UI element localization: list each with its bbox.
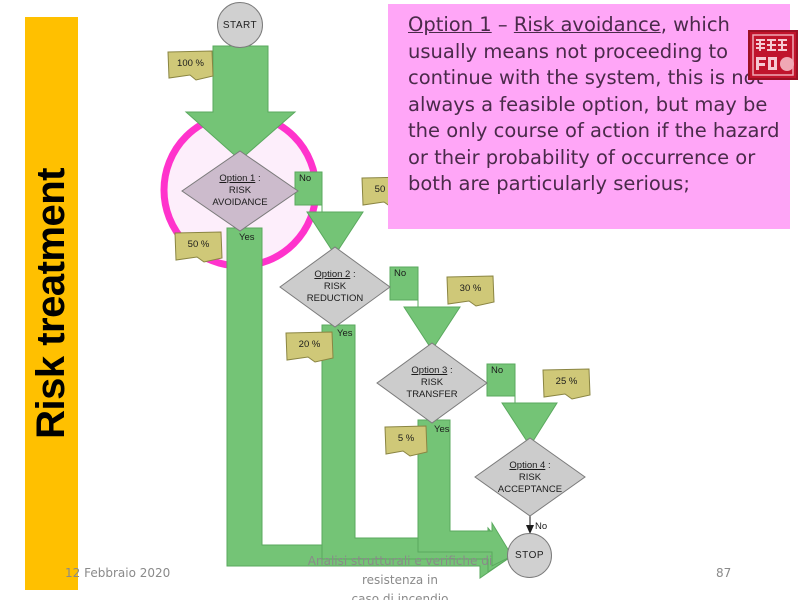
note-30-percent-label: 30 % (447, 276, 494, 306)
edge-label-no-1: No (299, 173, 311, 184)
red-seal-stamp-icon (748, 30, 798, 80)
edge-label-yes-1: Yes (239, 232, 255, 243)
decision-opt3-line2: RISK (421, 377, 443, 389)
footer-page-number: 87 (716, 566, 731, 580)
footer-subject-line2: caso di incendio (280, 590, 520, 600)
decision-opt2-line3: REDUCTION (307, 293, 363, 305)
edge-label-no-4: No (535, 521, 547, 532)
decision-opt4-labels[interactable]: Option 4 : RISK ACCEPTANCE (475, 438, 585, 517)
note-100-percent-label: 100 % (168, 51, 213, 80)
edge-label-no-3: No (491, 365, 503, 376)
note-25-percent-label: 25 % (543, 369, 590, 399)
callout-term-label: Risk avoidance (514, 13, 661, 36)
decision-opt1-line2: RISK (229, 185, 251, 197)
footer-subject: Analisi strutturali e verifiche di resis… (280, 552, 520, 600)
callout-body-text: , which usually means not proceeding to … (408, 13, 779, 195)
note-20-percent-label: 20 % (286, 332, 333, 362)
callout-option-label: Option 1 (408, 13, 492, 36)
note-25-percent: 25 % (543, 369, 590, 399)
note-30-percent: 30 % (447, 276, 494, 306)
callout-text: Option 1 – Risk avoidance, which usually… (408, 12, 780, 198)
note-100-percent: 100 % (168, 51, 213, 80)
edge-label-no-2: No (394, 268, 406, 279)
callout-lead: Option 1 – Risk avoidance, which usually… (408, 13, 779, 195)
terminator-start-label: START (223, 20, 257, 31)
decision-opt1-line3: AVOIDANCE (212, 197, 267, 209)
decision-opt3-line3: TRANSFER (406, 389, 457, 401)
decision-opt2-line2: RISK (324, 281, 346, 293)
decision-opt1-title: Option 1 : (219, 173, 260, 185)
slide-canvas: Risk treatment (0, 0, 800, 600)
note-5-percent: 5 % (385, 426, 427, 456)
note-50a-percent-label: 50 % (175, 232, 222, 262)
decision-opt3-title: Option 3 : (411, 365, 452, 377)
decision-opt4-line3: ACCEPTANCE (498, 484, 562, 496)
note-5-percent-label: 5 % (385, 426, 427, 456)
footer-date: 12 Febbraio 2020 (65, 566, 170, 580)
note-20-percent: 20 % (286, 332, 333, 362)
decision-opt4-title: Option 4 : (509, 460, 550, 472)
decision-opt1-labels[interactable]: Option 1 : RISK AVOIDANCE (182, 151, 298, 231)
callout-dash: – (492, 13, 514, 36)
decision-opt2-title: Option 2 : (314, 269, 355, 281)
edge-label-yes-2: Yes (337, 328, 353, 339)
decision-opt2-labels[interactable]: Option 2 : RISK REDUCTION (280, 247, 390, 327)
decision-opt4-line2: RISK (519, 472, 541, 484)
terminator-start[interactable]: START (217, 2, 263, 48)
edge-label-yes-3: Yes (434, 424, 450, 435)
footer-subject-line1: Analisi strutturali e verifiche di resis… (280, 552, 520, 590)
note-50a-percent: 50 % (175, 232, 222, 262)
decision-opt3-labels[interactable]: Option 3 : RISK TRANSFER (377, 343, 487, 423)
